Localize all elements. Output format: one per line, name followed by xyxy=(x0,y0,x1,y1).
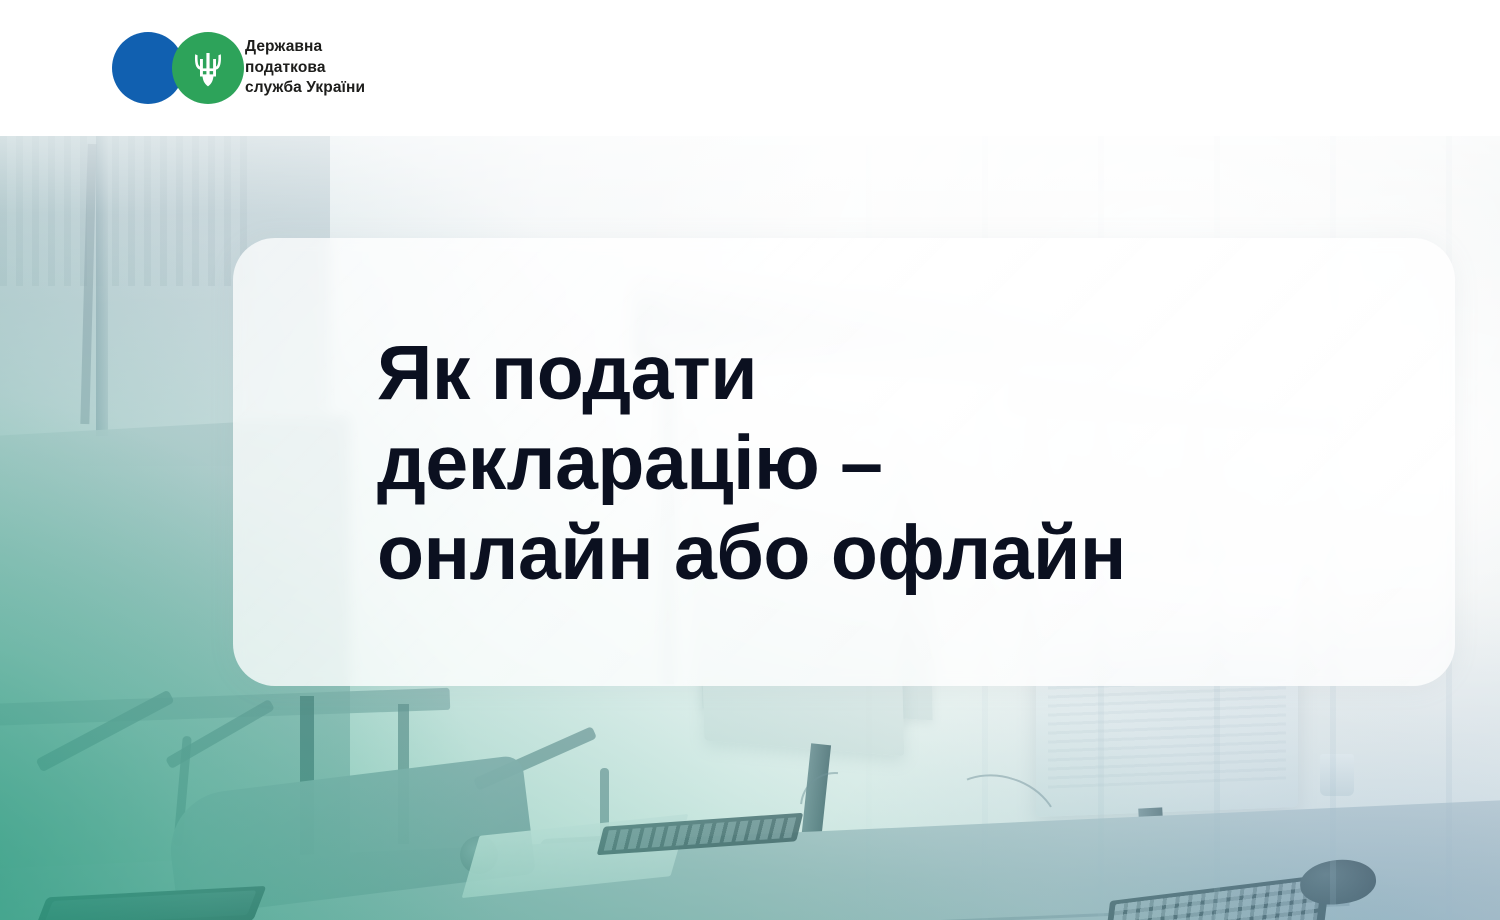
logo-text-block: Державна податкова служба України xyxy=(245,37,365,99)
logo-text-line-3: служба України xyxy=(245,78,365,99)
page-title: Як подати декларацію – онлайн або офлайн xyxy=(377,328,1377,598)
logo-text-line-1: Державна xyxy=(245,37,365,58)
logo-marks xyxy=(112,32,232,104)
logo-text-line-2: податкова xyxy=(245,58,365,79)
logo-lockup[interactable]: Державна податкова служба України xyxy=(112,32,365,104)
slide-root: Державна податкова служба України xyxy=(0,0,1500,920)
ukraine-trident-icon xyxy=(172,32,244,104)
header-bar: Державна податкова служба України xyxy=(0,0,1500,136)
